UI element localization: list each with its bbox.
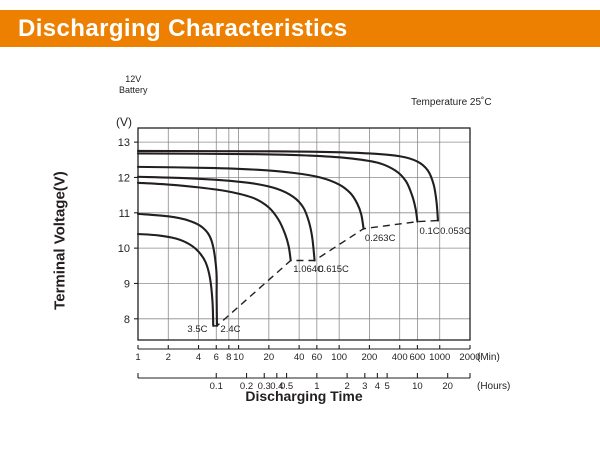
x-tick-label-minutes: 60 — [312, 352, 323, 363]
x-tick-label-hours: 0.1 — [210, 381, 223, 392]
curve-label-0-053C: 0.053C — [440, 226, 471, 237]
x-tick-label-minutes: 200 — [361, 352, 377, 363]
x-tick-label-hours: 4 — [375, 381, 380, 392]
x-tick-label-hours: 5 — [384, 381, 389, 392]
y-tick-label: 9 — [124, 278, 130, 290]
x-axis-minutes: 124681020406010020040060010002000(Min) — [135, 345, 499, 363]
curve-2-4C — [138, 214, 217, 326]
x-tick-label-minutes: 6 — [214, 352, 219, 363]
hours-unit-label: (Hours) — [477, 381, 510, 392]
x-tick-label-minutes: 600 — [409, 352, 425, 363]
x-tick-label-minutes: 1 — [135, 352, 140, 363]
x-tick-label-minutes: 100 — [331, 352, 347, 363]
x-tick-label-minutes: 8 — [226, 352, 231, 363]
x-tick-label-minutes: 1000 — [429, 352, 450, 363]
plot-canvas: 3.5C2.4C1.064C0.615C0.263C0.1C0.053C 131… — [0, 47, 600, 451]
discharging-characteristics-chart: 12V Battery (V) Temperature 25˚C Termina… — [0, 47, 600, 451]
x-tick-label-hours: 20 — [442, 381, 453, 392]
y-tick-label: 10 — [118, 243, 130, 255]
curve-label-2-4C: 2.4C — [220, 324, 240, 335]
x-tick-label-hours: 10 — [412, 381, 423, 392]
curve-label-0-263C: 0.263C — [365, 233, 396, 244]
x-axis-hours: 0.10.20.30.40.5123451020(Hours) — [138, 373, 510, 392]
x-tick-label-minutes: 2 — [166, 352, 171, 363]
x-tick-label-hours: 0.5 — [280, 381, 293, 392]
x-tick-label-minutes: 40 — [294, 352, 305, 363]
y-tick-label: 8 — [124, 314, 130, 326]
x-tick-label-hours: 2 — [344, 381, 349, 392]
x-tick-label-hours: 3 — [362, 381, 367, 392]
y-axis-ticks: 1312111098 — [118, 137, 138, 326]
curve-label-0-1C: 0.1C — [420, 226, 440, 237]
x-tick-label-hours: 1 — [314, 381, 319, 392]
x-tick-label-hours: 0.2 — [240, 381, 253, 392]
y-tick-label: 12 — [118, 172, 130, 184]
page-title: Discharging Characteristics — [18, 13, 348, 44]
y-tick-label: 13 — [118, 137, 130, 149]
x-tick-label-hours: 0.3 — [258, 381, 271, 392]
x-tick-label-minutes: 10 — [233, 352, 244, 363]
curve-0-1C — [138, 153, 417, 221]
x-tick-label-minutes: 400 — [392, 352, 408, 363]
y-tick-label: 11 — [119, 208, 130, 220]
curve-label-0-615C: 0.615C — [318, 264, 349, 275]
x-tick-label-minutes: 20 — [264, 352, 275, 363]
minutes-unit-label: (Min) — [477, 352, 500, 363]
curve-label-3-5C: 3.5C — [187, 324, 207, 335]
x-tick-label-minutes: 4 — [196, 352, 201, 363]
